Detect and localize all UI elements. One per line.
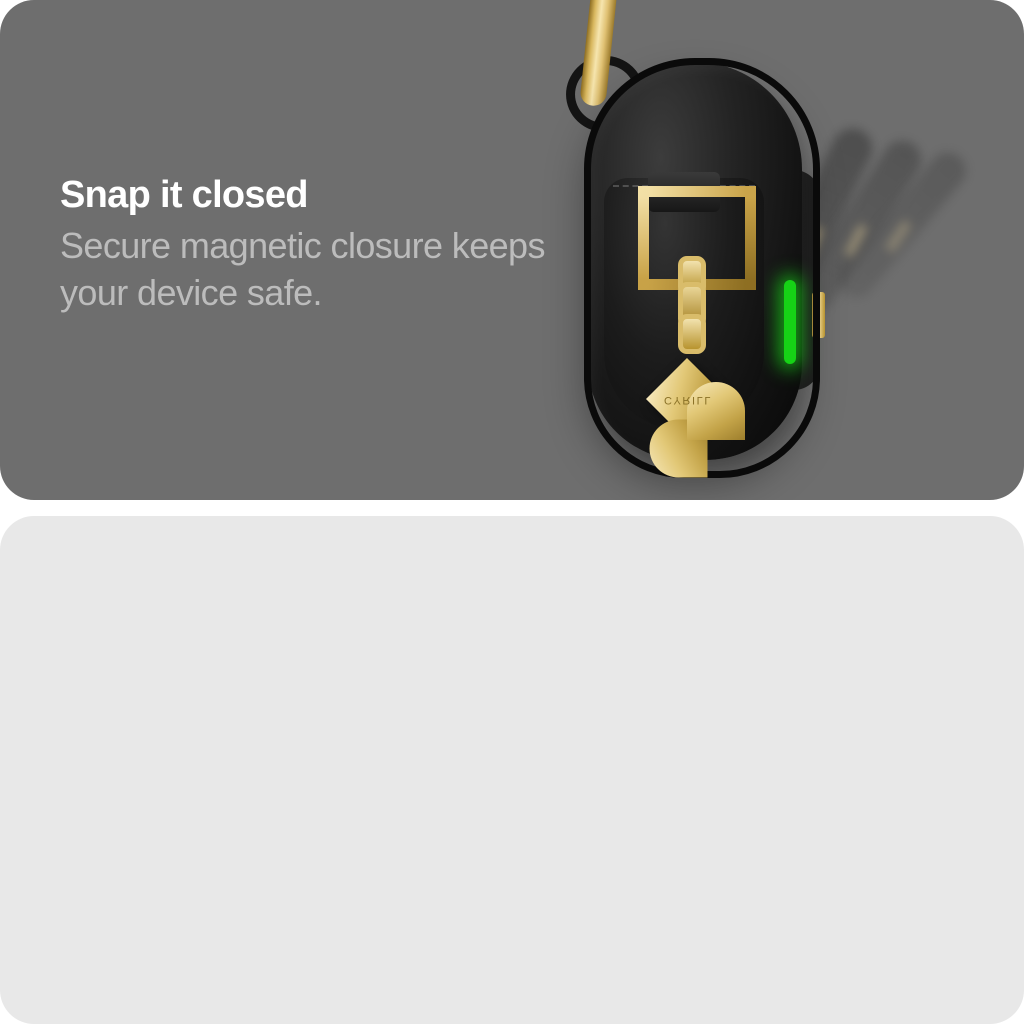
copy-block-snap-closed: Snap it closed Secure magnetic closure k…: [60, 176, 560, 317]
panel-easy-access: CYRILL Easy access Precise cutouts for w…: [0, 516, 1024, 1024]
panel-headline: Snap it closed: [60, 176, 560, 216]
chain-link-icon: [678, 314, 706, 354]
panel-subline: Secure magnetic closure keeps your devic…: [60, 222, 560, 317]
panel-snap-it-closed: CYRILL Snap it closed Secure magnetic cl…: [0, 0, 1024, 500]
product-feature-page: CYRILL Snap it closed Secure magnetic cl…: [0, 0, 1024, 1024]
heart-charm-engraving: CYRILL: [645, 394, 731, 406]
